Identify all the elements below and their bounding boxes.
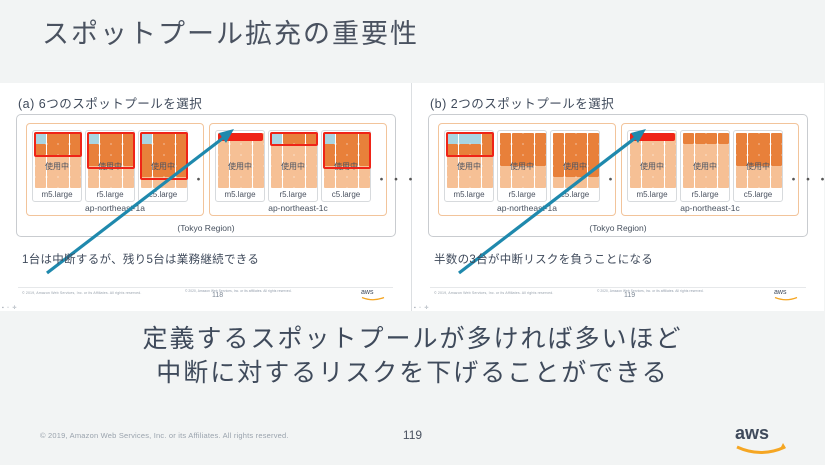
- capacity-cell: [588, 155, 599, 166]
- capacity-cell: [347, 166, 358, 177]
- capacity-cell: [706, 144, 717, 155]
- capacity-cell: [359, 144, 370, 155]
- capacity-cell: [306, 133, 317, 144]
- capacity-cell: [176, 144, 187, 155]
- capacity-cell: [470, 144, 481, 155]
- capacity-cell: [283, 166, 294, 177]
- capacity-cell: [336, 177, 347, 188]
- capacity-grid: [736, 133, 782, 188]
- capacity-cell: [58, 133, 69, 144]
- pool-name: c5.large: [734, 190, 782, 199]
- capacity-cell: [759, 166, 770, 177]
- capacity-cell: [47, 177, 58, 188]
- capacity-cell: [771, 144, 782, 155]
- panel-a-az-1c-pool-m5: 使用中 m5.large: [215, 130, 265, 202]
- mini-page-number: 118: [212, 292, 223, 299]
- capacity-row: [736, 133, 782, 144]
- capacity-cell: [500, 177, 511, 188]
- svg-text:aws: aws: [735, 423, 769, 443]
- capacity-cell: [241, 155, 252, 166]
- capacity-cell: [512, 155, 523, 166]
- capacity-cell: [553, 133, 564, 144]
- capacity-row: [500, 166, 546, 177]
- capacity-cell: [553, 144, 564, 155]
- capacity-cell: [123, 166, 134, 177]
- capacity-cell: [665, 155, 676, 166]
- capacity-cell: [630, 166, 641, 177]
- capacity-cell: [576, 144, 587, 155]
- capacity-grid: [324, 133, 370, 188]
- capacity-cell: [736, 133, 747, 144]
- capacity-cell: [306, 155, 317, 166]
- capacity-cell: [470, 155, 481, 166]
- capacity-row: [271, 177, 317, 188]
- pool-name: r5.large: [269, 190, 317, 199]
- capacity-cell: [271, 155, 282, 166]
- capacity-cell: [470, 166, 481, 177]
- capacity-cell: [111, 133, 122, 144]
- capacity-cell: [759, 133, 770, 144]
- capacity-cell: [695, 144, 706, 155]
- bottom-message-line-2: 中断に対するリスクを下げることができる: [0, 356, 825, 390]
- capacity-cell: [706, 177, 717, 188]
- capacity-cell: [630, 155, 641, 166]
- capacity-cell: [535, 133, 546, 144]
- panel-b-az-1a: ap-northeast-1a 使用中 m5.large 使用中 r5.larg…: [438, 123, 616, 216]
- capacity-row: [500, 155, 546, 166]
- capacity-row: [35, 155, 81, 166]
- capacity-cell: [695, 166, 706, 177]
- capacity-cell: [153, 177, 164, 188]
- capacity-cell: [111, 144, 122, 155]
- capacity-cell: [576, 177, 587, 188]
- capacity-cell: [253, 166, 264, 177]
- panel-a: (a) 6つのスポットプールを選択 (Tokyo Region) ap-nort…: [0, 83, 412, 311]
- capacity-cell: [512, 133, 523, 144]
- panel-a-az-1c-pool-r5: 使用中 r5.large: [268, 130, 318, 202]
- panel-b-az-1a-label: ap-northeast-1a: [439, 203, 615, 213]
- capacity-cell: [164, 144, 175, 155]
- capacity-cell: [447, 177, 458, 188]
- capacity-cell: [459, 177, 470, 188]
- capacity-cell: [141, 177, 152, 188]
- capacity-row: [630, 166, 676, 177]
- capacity-row: [141, 177, 187, 188]
- pool-name: m5.large: [445, 190, 493, 199]
- capacity-cell: [141, 155, 152, 166]
- capacity-cell: [164, 155, 175, 166]
- capacity-cell: [35, 144, 46, 155]
- capacity-row: [141, 166, 187, 177]
- capacity-cell: [683, 166, 694, 177]
- capacity-row: [88, 133, 134, 144]
- capacity-cell: [459, 144, 470, 155]
- capacity-row: [736, 177, 782, 188]
- capacity-cell: [683, 133, 694, 144]
- capacity-cell: [695, 177, 706, 188]
- capacity-cell: [459, 166, 470, 177]
- capacity-cell: [88, 144, 99, 155]
- capacity-cell: [665, 144, 676, 155]
- capacity-row: [218, 177, 264, 188]
- capacity-row: [447, 144, 493, 155]
- panel-b-title: (b) 2つのスポットプールを選択: [430, 93, 614, 112]
- capacity-row: [271, 166, 317, 177]
- capacity-row: [141, 133, 187, 144]
- capacity-cell: [500, 155, 511, 166]
- capacity-cell: [70, 155, 81, 166]
- panel-a-az-1a-label: ap-northeast-1a: [27, 203, 203, 213]
- capacity-cell: [324, 155, 335, 166]
- capacity-row: [88, 144, 134, 155]
- capacity-cell: [123, 144, 134, 155]
- capacity-row: [324, 166, 370, 177]
- panel-a-az-1a-pool-c5: 使用中 c5.large: [138, 130, 188, 202]
- capacity-cell: [336, 144, 347, 155]
- panel-b: (b) 2つのスポットプールを選択 (Tokyo Region) ap-nort…: [412, 83, 824, 311]
- capacity-row: [88, 166, 134, 177]
- capacity-cell: [324, 133, 335, 144]
- mini-copyright: © 2019, Amazon Web Services, Inc. or its…: [22, 291, 141, 295]
- capacity-cell: [459, 133, 470, 144]
- interrupted-capacity-bar: [630, 133, 675, 141]
- capacity-cell: [665, 166, 676, 177]
- capacity-cell: [718, 144, 729, 155]
- capacity-row: [630, 177, 676, 188]
- capacity-row: [500, 133, 546, 144]
- panel-a-az-1c-label: ap-northeast-1c: [210, 203, 386, 213]
- capacity-cell: [253, 155, 264, 166]
- capacity-row: [553, 133, 599, 144]
- capacity-cell: [176, 155, 187, 166]
- capacity-cell: [35, 166, 46, 177]
- capacity-row: [553, 166, 599, 177]
- capacity-cell: [748, 155, 759, 166]
- capacity-cell: [100, 133, 111, 144]
- capacity-cell: [706, 133, 717, 144]
- capacity-cell: [459, 155, 470, 166]
- capacity-cell: [535, 155, 546, 166]
- capacity-cell: [271, 166, 282, 177]
- capacity-grid: [141, 133, 187, 188]
- capacity-cell: [535, 166, 546, 177]
- capacity-row: [35, 177, 81, 188]
- capacity-cell: [683, 155, 694, 166]
- mini-copyright-overlap: © 2020, Amazon Web Services, Inc. or its…: [185, 289, 292, 293]
- capacity-cell: [553, 166, 564, 177]
- panel-a-title: (a) 6つのスポットプールを選択: [18, 93, 202, 112]
- pool-name: r5.large: [681, 190, 729, 199]
- capacity-cell: [324, 144, 335, 155]
- capacity-row: [324, 133, 370, 144]
- capacity-cell: [47, 144, 58, 155]
- capacity-cell: [70, 133, 81, 144]
- capacity-cell: [683, 144, 694, 155]
- panel-b-az-1c-pool-c5: 使用中 c5.large: [733, 130, 783, 202]
- panel-a-az-1c: ap-northeast-1c 使用中 m5.large 使用中 r5.larg…: [209, 123, 387, 216]
- capacity-cell: [447, 155, 458, 166]
- panel-b-az-1a-pool-r5: 使用中 r5.large: [497, 130, 547, 202]
- capacity-row: [553, 155, 599, 166]
- bottom-message: 定義するスポットプールが多ければ多いほど 中断に対するリスクを下げることができる: [0, 322, 825, 390]
- capacity-row: [736, 155, 782, 166]
- capacity-cell: [565, 133, 576, 144]
- capacity-cell: [718, 166, 729, 177]
- capacity-row: [218, 144, 264, 155]
- capacity-cell: [653, 166, 664, 177]
- capacity-cell: [588, 177, 599, 188]
- capacity-cell: [470, 177, 481, 188]
- capacity-cell: [164, 166, 175, 177]
- pool-name: c5.large: [551, 190, 599, 199]
- capacity-cell: [88, 166, 99, 177]
- capacity-cell: [294, 166, 305, 177]
- panel-b-az-1c-ellipsis: ・・・: [787, 169, 825, 188]
- capacity-cell: [218, 166, 229, 177]
- capacity-cell: [447, 133, 458, 144]
- capacity-cell: [512, 177, 523, 188]
- capacity-cell: [88, 155, 99, 166]
- page-title: スポットプール拡充の重要性: [42, 12, 419, 51]
- capacity-row: [324, 155, 370, 166]
- capacity-cell: [653, 144, 664, 155]
- capacity-cell: [523, 177, 534, 188]
- capacity-cell: [70, 166, 81, 177]
- capacity-cell: [35, 155, 46, 166]
- capacity-cell: [47, 133, 58, 144]
- capacity-cell: [253, 144, 264, 155]
- footer-page-number: 119: [0, 428, 825, 442]
- capacity-cell: [347, 144, 358, 155]
- capacity-cell: [230, 155, 241, 166]
- capacity-cell: [70, 144, 81, 155]
- capacity-cell: [565, 177, 576, 188]
- capacity-cell: [630, 144, 641, 155]
- capacity-cell: [588, 166, 599, 177]
- capacity-cell: [706, 155, 717, 166]
- capacity-cell: [111, 155, 122, 166]
- capacity-row: [141, 144, 187, 155]
- capacity-row: [218, 166, 264, 177]
- capacity-cell: [47, 166, 58, 177]
- capacity-cell: [642, 166, 653, 177]
- capacity-cell: [665, 177, 676, 188]
- capacity-cell: [482, 133, 493, 144]
- capacity-cell: [324, 177, 335, 188]
- capacity-row: [683, 133, 729, 144]
- capacity-cell: [35, 133, 46, 144]
- capacity-cell: [176, 133, 187, 144]
- capacity-row: [141, 155, 187, 166]
- capacity-cell: [306, 177, 317, 188]
- pool-name: c5.large: [322, 190, 370, 199]
- capacity-cell: [294, 144, 305, 155]
- capacity-cell: [141, 133, 152, 144]
- capacity-cell: [111, 177, 122, 188]
- capacity-cell: [642, 177, 653, 188]
- capacity-grid: [271, 133, 317, 188]
- capacity-row: [683, 144, 729, 155]
- capacity-cell: [241, 177, 252, 188]
- capacity-cell: [336, 155, 347, 166]
- capacity-cell: [283, 133, 294, 144]
- capacity-cell: [88, 177, 99, 188]
- capacity-cell: [642, 144, 653, 155]
- capacity-cell: [294, 133, 305, 144]
- capacity-row: [630, 144, 676, 155]
- capacity-row: [35, 133, 81, 144]
- pool-name: m5.large: [33, 190, 81, 199]
- capacity-row: [553, 177, 599, 188]
- panel-b-region-box: (Tokyo Region) ap-northeast-1a 使用中 m5.la…: [428, 114, 808, 237]
- interrupted-capacity-bar: [218, 133, 263, 141]
- capacity-cell: [470, 133, 481, 144]
- capacity-cell: [153, 144, 164, 155]
- capacity-row: [500, 177, 546, 188]
- capacity-cell: [271, 177, 282, 188]
- capacity-cell: [283, 144, 294, 155]
- capacity-cell: [523, 155, 534, 166]
- capacity-cell: [218, 177, 229, 188]
- capacity-cell: [241, 144, 252, 155]
- capacity-row: [683, 155, 729, 166]
- capacity-cell: [771, 177, 782, 188]
- capacity-cell: [535, 177, 546, 188]
- capacity-cell: [347, 155, 358, 166]
- mini-status-icons: ▪ ▫ ✛: [2, 305, 18, 311]
- capacity-cell: [164, 177, 175, 188]
- capacity-cell: [359, 177, 370, 188]
- capacity-cell: [759, 177, 770, 188]
- capacity-cell: [695, 133, 706, 144]
- capacity-cell: [253, 177, 264, 188]
- capacity-cell: [630, 177, 641, 188]
- capacity-cell: [736, 144, 747, 155]
- aws-logo-icon: aws: [361, 287, 387, 306]
- capacity-cell: [176, 166, 187, 177]
- capacity-cell: [736, 155, 747, 166]
- capacity-cell: [88, 133, 99, 144]
- capacity-cell: [347, 133, 358, 144]
- capacity-row: [683, 166, 729, 177]
- capacity-cell: [447, 166, 458, 177]
- capacity-cell: [283, 155, 294, 166]
- capacity-cell: [653, 177, 664, 188]
- panel-b-az-1c-pool-r5: 使用中 r5.large: [680, 130, 730, 202]
- panel-b-az-1a-pool-c5: 使用中 c5.large: [550, 130, 600, 202]
- capacity-cell: [359, 166, 370, 177]
- capacity-cell: [447, 144, 458, 155]
- capacity-cell: [153, 166, 164, 177]
- capacity-row: [553, 144, 599, 155]
- panel-b-az-1c-label: ap-northeast-1c: [622, 203, 798, 213]
- panel-b-caption: 半数の3台が中断リスクを負うことになる: [434, 251, 653, 267]
- capacity-cell: [123, 177, 134, 188]
- capacity-row: [35, 166, 81, 177]
- capacity-cell: [748, 177, 759, 188]
- capacity-cell: [70, 177, 81, 188]
- capacity-grid: [35, 133, 81, 188]
- capacity-cell: [565, 166, 576, 177]
- capacity-cell: [58, 144, 69, 155]
- capacity-cell: [294, 177, 305, 188]
- capacity-cell: [306, 144, 317, 155]
- capacity-cell: [588, 133, 599, 144]
- panel-a-az-1c-pool-c5: 使用中 c5.large: [321, 130, 371, 202]
- capacity-cell: [718, 177, 729, 188]
- capacity-cell: [47, 155, 58, 166]
- capacity-row: [271, 155, 317, 166]
- capacity-cell: [512, 144, 523, 155]
- capacity-grid: [500, 133, 546, 188]
- mini-page-number: 119: [624, 292, 635, 299]
- capacity-cell: [482, 155, 493, 166]
- capacity-cell: [100, 166, 111, 177]
- capacity-row: [736, 144, 782, 155]
- capacity-grid: [630, 133, 676, 188]
- capacity-cell: [58, 177, 69, 188]
- capacity-cell: [336, 133, 347, 144]
- capacity-row: [271, 133, 317, 144]
- capacity-cell: [176, 177, 187, 188]
- capacity-row: [88, 177, 134, 188]
- capacity-row: [447, 155, 493, 166]
- panel-b-mini-footer: © 2019, Amazon Web Services, Inc. or its…: [412, 287, 824, 305]
- capacity-cell: [642, 155, 653, 166]
- capacity-cell: [565, 144, 576, 155]
- capacity-cell: [523, 144, 534, 155]
- capacity-grid: [447, 133, 493, 188]
- capacity-cell: [576, 166, 587, 177]
- capacity-row: [630, 155, 676, 166]
- capacity-cell: [500, 133, 511, 144]
- panel-b-az-1a-pool-m5: 使用中 m5.large: [444, 130, 494, 202]
- capacity-cell: [695, 155, 706, 166]
- capacity-cell: [706, 166, 717, 177]
- capacity-cell: [111, 166, 122, 177]
- panel-a-az-1a-pool-m5: 使用中 m5.large: [32, 130, 82, 202]
- capacity-cell: [141, 166, 152, 177]
- capacity-cell: [100, 177, 111, 188]
- capacity-cell: [748, 133, 759, 144]
- capacity-cell: [164, 133, 175, 144]
- capacity-grid: [88, 133, 134, 188]
- capacity-cell: [736, 166, 747, 177]
- panel-a-region-label: (Tokyo Region): [17, 223, 395, 233]
- capacity-cell: [294, 155, 305, 166]
- panel-b-region-label: (Tokyo Region): [429, 223, 807, 233]
- capacity-cell: [771, 166, 782, 177]
- panel-a-az-1a: ap-northeast-1a 使用中 m5.large 使用中 r5.larg…: [26, 123, 204, 216]
- pool-name: m5.large: [216, 190, 264, 199]
- capacity-row: [447, 166, 493, 177]
- capacity-cell: [523, 133, 534, 144]
- capacity-cell: [553, 155, 564, 166]
- capacity-cell: [58, 155, 69, 166]
- aws-logo-icon: aws: [774, 287, 800, 306]
- capacity-cell: [748, 166, 759, 177]
- capacity-cell: [271, 133, 282, 144]
- capacity-row: [683, 177, 729, 188]
- svg-text:aws: aws: [774, 289, 787, 296]
- capacity-row: [447, 133, 493, 144]
- capacity-grid: [683, 133, 729, 188]
- capacity-row: [88, 155, 134, 166]
- capacity-row: [324, 177, 370, 188]
- pool-name: r5.large: [86, 190, 134, 199]
- capacity-cell: [306, 166, 317, 177]
- capacity-cell: [771, 155, 782, 166]
